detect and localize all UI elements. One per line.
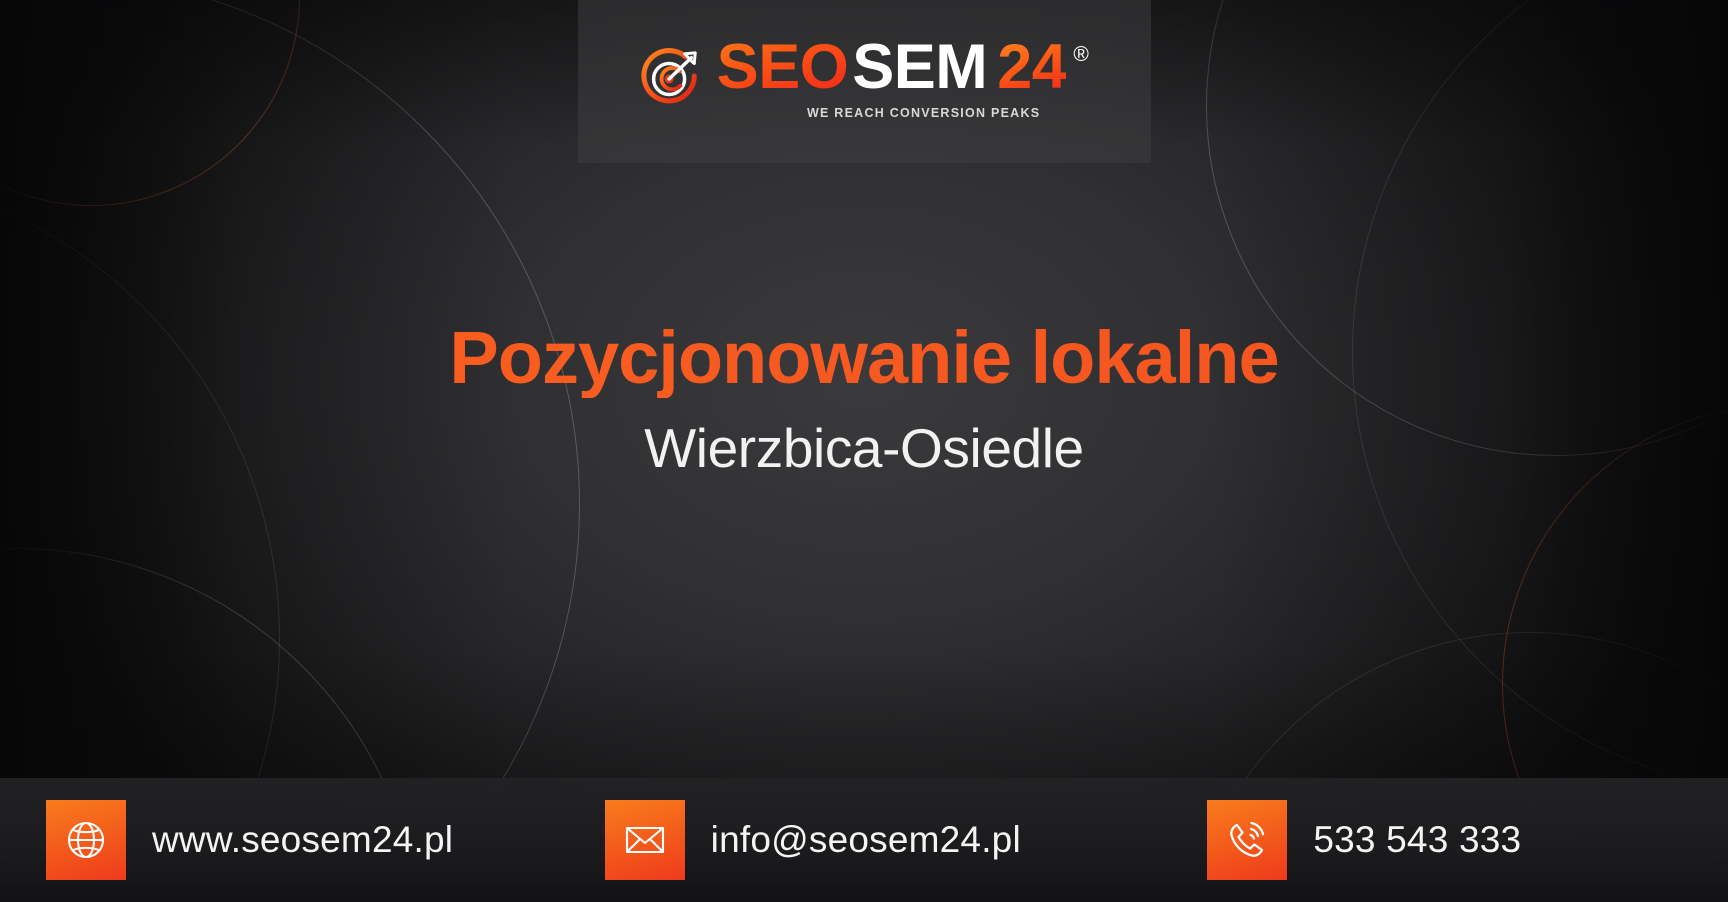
email-label: info@seosem24.pl [711,819,1021,861]
hero-text-block: Pozycjonowanie lokalne Wierzbica-Osiedle [0,318,1728,478]
contact-bar: www.seosem24.pl info@seosem24.pl [0,778,1728,902]
page-title: Pozycjonowanie lokalne [0,318,1728,398]
registered-trademark-icon: ® [1073,44,1088,65]
website-label: www.seosem24.pl [152,819,453,861]
phone-icon [1207,800,1287,880]
target-bullseye-arrow-icon [641,47,703,109]
wordmark: SEO SEM 24 ® WE REACH CONVERSION PEAKS [717,36,1089,120]
page-subtitle: Wierzbica-Osiedle [0,418,1728,479]
wordmark-24: 24 [997,36,1066,99]
phone-label: 533 543 333 [1313,819,1521,861]
globe-icon [46,800,126,880]
logo-panel: SEO SEM 24 ® WE REACH CONVERSION PEAKS [578,0,1151,163]
wordmark-seo: SEO [717,36,853,99]
decorative-ring-orange-top-left [0,0,300,206]
contact-item-phone[interactable]: 533 543 333 [1125,800,1728,880]
envelope-icon [605,800,685,880]
banner-canvas: SEO SEM 24 ® WE REACH CONVERSION PEAKS P… [0,0,1728,902]
wordmark-row: SEO SEM 24 ® [717,36,1089,99]
logo-lockup: SEO SEM 24 ® WE REACH CONVERSION PEAKS [641,36,1089,120]
wordmark-sem: SEM [852,36,987,99]
contact-item-email[interactable]: info@seosem24.pl [567,800,1126,880]
wordmark-tagline: WE REACH CONVERSION PEAKS [717,106,1089,120]
contact-item-website[interactable]: www.seosem24.pl [0,800,567,880]
